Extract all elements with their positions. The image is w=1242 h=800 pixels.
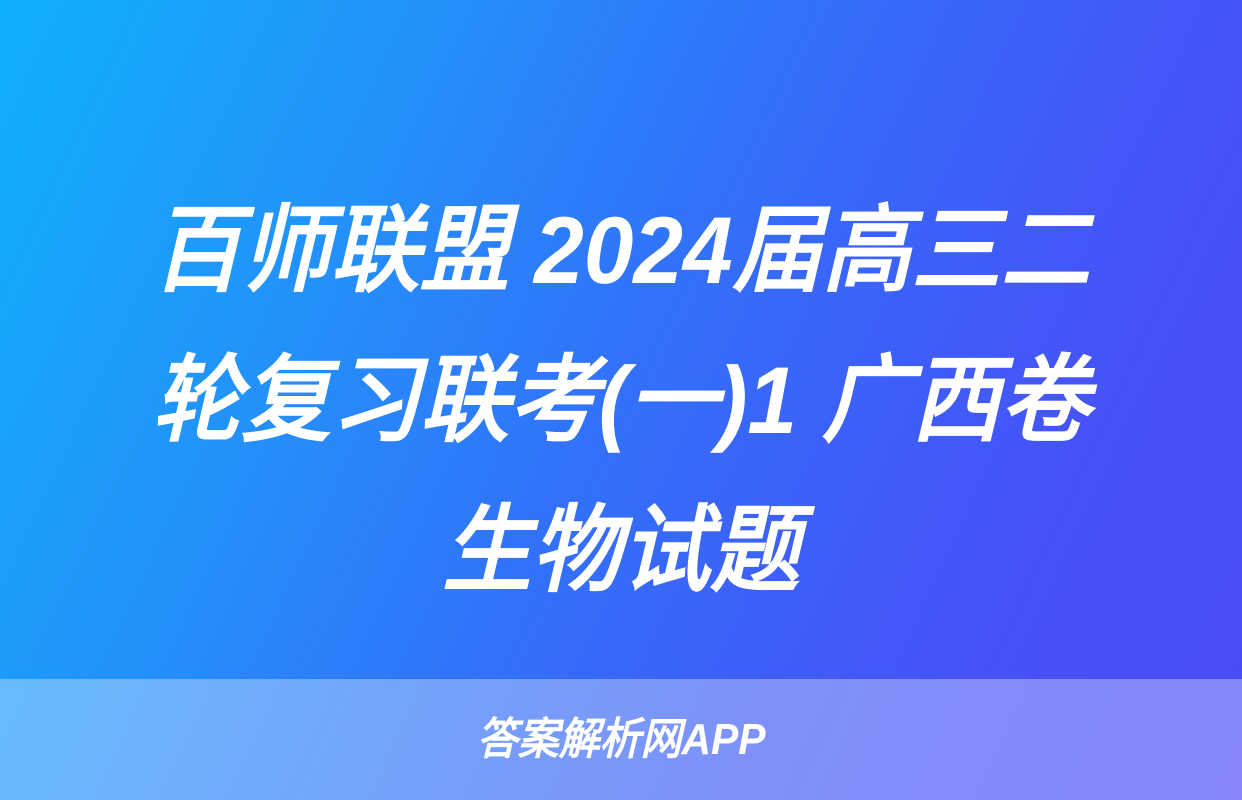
title-line-3: 生物试题 bbox=[84, 476, 1157, 626]
app-watermark-label: 答案解析网APP bbox=[477, 715, 766, 765]
app-watermark: 答案解析网APP bbox=[0, 715, 1242, 765]
title-line-2: 轮复习联考(一)1 广西卷 bbox=[84, 326, 1157, 476]
exam-paper-title-banner: 百师联盟 2024届高三二 轮复习联考(一)1 广西卷 生物试题 答案解析网AP… bbox=[0, 0, 1242, 800]
title-line-1: 百师联盟 2024届高三二 bbox=[84, 176, 1157, 326]
footer-band: 答案解析网APP bbox=[0, 679, 1242, 800]
page-title: 百师联盟 2024届高三二 轮复习联考(一)1 广西卷 生物试题 bbox=[0, 176, 1242, 626]
